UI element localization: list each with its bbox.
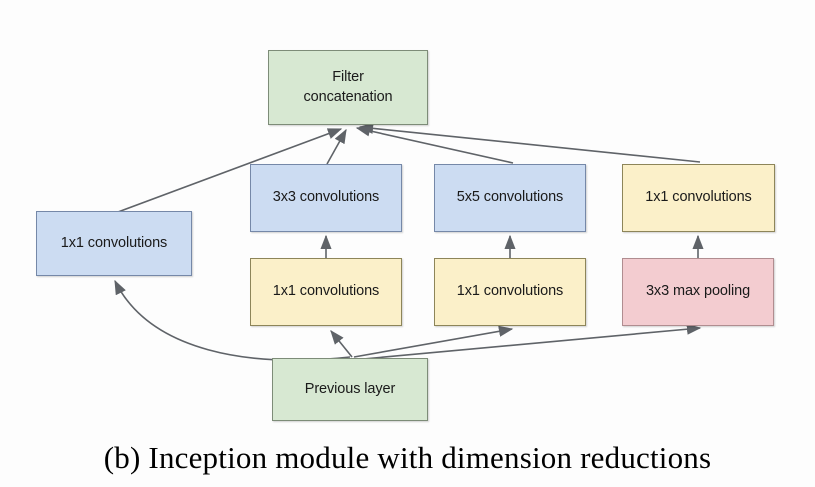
- node-label: 3x3 max pooling: [642, 282, 754, 302]
- node-label: 1x1 convolutions: [57, 234, 171, 254]
- node-label: 1x1 convolutions: [269, 282, 383, 302]
- node-label: 3x3 convolutions: [269, 188, 383, 208]
- node-label: 5x5 convolutions: [453, 188, 567, 208]
- node-previous-layer[interactable]: Previous layer: [272, 358, 428, 421]
- edge-prev-to-reduce-b: [354, 329, 512, 357]
- edge-conv5x5-to-concat: [357, 128, 513, 163]
- node-label: Filter concatenation: [300, 68, 397, 107]
- figure-caption: (b) Inception module with dimension redu…: [0, 440, 815, 476]
- node-conv-3x3[interactable]: 3x3 convolutions: [250, 164, 402, 232]
- node-label: 1x1 convolutions: [641, 188, 755, 208]
- node-reduce-1x1-b[interactable]: 1x1 convolutions: [434, 258, 586, 326]
- node-reduce-1x1-left[interactable]: 1x1 convolutions: [36, 211, 192, 276]
- edge-prev-to-reduce-a: [331, 331, 352, 357]
- node-filter-concatenation[interactable]: Filter concatenation: [268, 50, 428, 125]
- inception-module-figure: Filter concatenation 1x1 convolutions 3x…: [0, 0, 815, 487]
- edge-conv3x3-to-concat: [327, 130, 346, 164]
- node-label: Previous layer: [301, 380, 399, 400]
- node-reduce-1x1-a[interactable]: 1x1 convolutions: [250, 258, 402, 326]
- node-max-pool-3x3[interactable]: 3x3 max pooling: [622, 258, 774, 326]
- node-conv-5x5[interactable]: 5x5 convolutions: [434, 164, 586, 232]
- edge-proj1x1-to-concat: [360, 127, 700, 162]
- node-proj-1x1-right[interactable]: 1x1 convolutions: [622, 164, 775, 232]
- node-label: 1x1 convolutions: [453, 282, 567, 302]
- edge-prev-to-pool: [352, 328, 700, 360]
